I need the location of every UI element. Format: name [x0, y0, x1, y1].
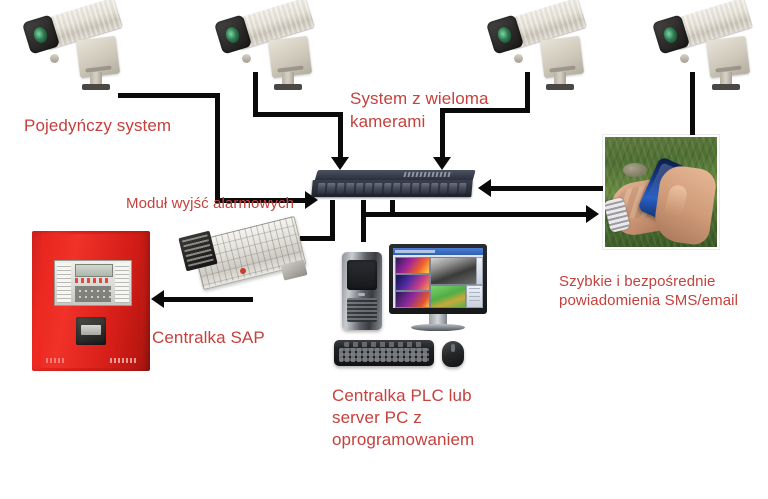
wire-cam2-horizontal	[253, 112, 343, 117]
photo-rock	[623, 163, 647, 177]
sap-keypad[interactable]	[75, 286, 111, 302]
label-single-system: Pojedyńczy system	[24, 115, 171, 136]
thermal-view-3	[395, 291, 430, 308]
wire-cam3-vertical	[525, 72, 530, 112]
sap-led-row	[75, 278, 111, 283]
smartphone-photo[interactable]	[603, 135, 719, 249]
arrow-to-phone	[586, 205, 599, 223]
camera-icon[interactable]	[20, 2, 136, 94]
label-multi-camera-line2: kamerami	[350, 111, 425, 132]
wire-cam1-vertical	[215, 93, 220, 203]
camera-knob	[50, 54, 59, 63]
label-plc-line3: oprogramowaniem	[332, 429, 474, 450]
camera-base	[82, 84, 110, 90]
camera-knob	[242, 54, 251, 63]
thermal-view-2	[395, 274, 430, 291]
monitor-screen[interactable]	[393, 248, 483, 308]
camera-base	[712, 84, 740, 90]
camera-knob	[514, 54, 523, 63]
wire-cam2-down	[338, 112, 343, 160]
arrow-into-switch-top-right	[433, 157, 451, 170]
sap-logo	[110, 358, 136, 363]
monitor-icon[interactable]	[389, 244, 487, 332]
switch-ports	[318, 183, 467, 194]
pc-drive-bay	[347, 260, 377, 290]
sap-left-strip	[57, 263, 71, 303]
io-module-icon[interactable]	[178, 218, 310, 302]
keyboard-icon[interactable]	[334, 340, 434, 366]
label-alarm-output-module: Moduł wyjść alarmowych	[126, 194, 294, 213]
monitor-base	[411, 324, 465, 331]
software-titlebar	[393, 248, 483, 255]
fire-alarm-panel-icon[interactable]	[32, 231, 150, 371]
pc-tower-icon[interactable]	[342, 252, 382, 330]
camera-icon[interactable]	[212, 2, 328, 94]
wire-cam2-vertical	[253, 72, 258, 116]
label-sms-line2: powiadomienia SMS/email	[559, 291, 738, 310]
camera-icon[interactable]	[484, 2, 600, 94]
label-plc-line1: Centralka PLC lub	[332, 385, 472, 406]
camera-icon[interactable]	[650, 2, 766, 94]
pc-power-button[interactable]	[358, 293, 365, 296]
arrow-to-sap-panel	[151, 290, 164, 308]
sap-display	[75, 264, 113, 277]
software-side-panel-narrow	[476, 257, 483, 285]
wire-switch-to-phone-horizontal	[361, 212, 591, 217]
wire-cam3-down	[440, 108, 445, 160]
keyboard-mediabar	[344, 342, 424, 347]
sap-right-strip	[115, 263, 129, 303]
photo-right-hand	[652, 163, 718, 246]
pc-vent-grille	[347, 298, 377, 322]
wire-switch-to-module-vertical	[330, 200, 335, 240]
switch-brand-label	[403, 172, 452, 177]
arrow-into-switch-top-left	[331, 157, 349, 170]
label-plc-line2: server PC z	[332, 407, 422, 428]
label-sap-panel: Centralka SAP	[152, 327, 265, 348]
software-side-panel	[466, 285, 483, 308]
sap-module-box	[76, 317, 106, 345]
sap-control-panel	[54, 260, 132, 306]
camera-base	[274, 84, 302, 90]
thermal-view-green	[430, 285, 466, 308]
software-workspace	[393, 255, 483, 308]
wire-cam1-horizontal	[118, 93, 220, 98]
camera-knob	[680, 54, 689, 63]
arrow-into-switch-right	[478, 179, 491, 197]
sap-logo-secondary	[46, 358, 64, 363]
camera-base	[546, 84, 574, 90]
thermal-view-1	[395, 257, 430, 274]
diagram-canvas: Pojedyńczy system System z wieloma kamer…	[0, 0, 768, 499]
grayscale-camera-view	[430, 257, 477, 285]
network-switch-icon[interactable]	[312, 170, 474, 200]
label-multi-camera-line1: System z wieloma	[350, 88, 489, 109]
label-sms-line1: Szybkie i bezpośrednie	[559, 272, 715, 291]
mouse-icon[interactable]	[442, 341, 464, 367]
wire-switch-to-pc	[361, 200, 366, 242]
